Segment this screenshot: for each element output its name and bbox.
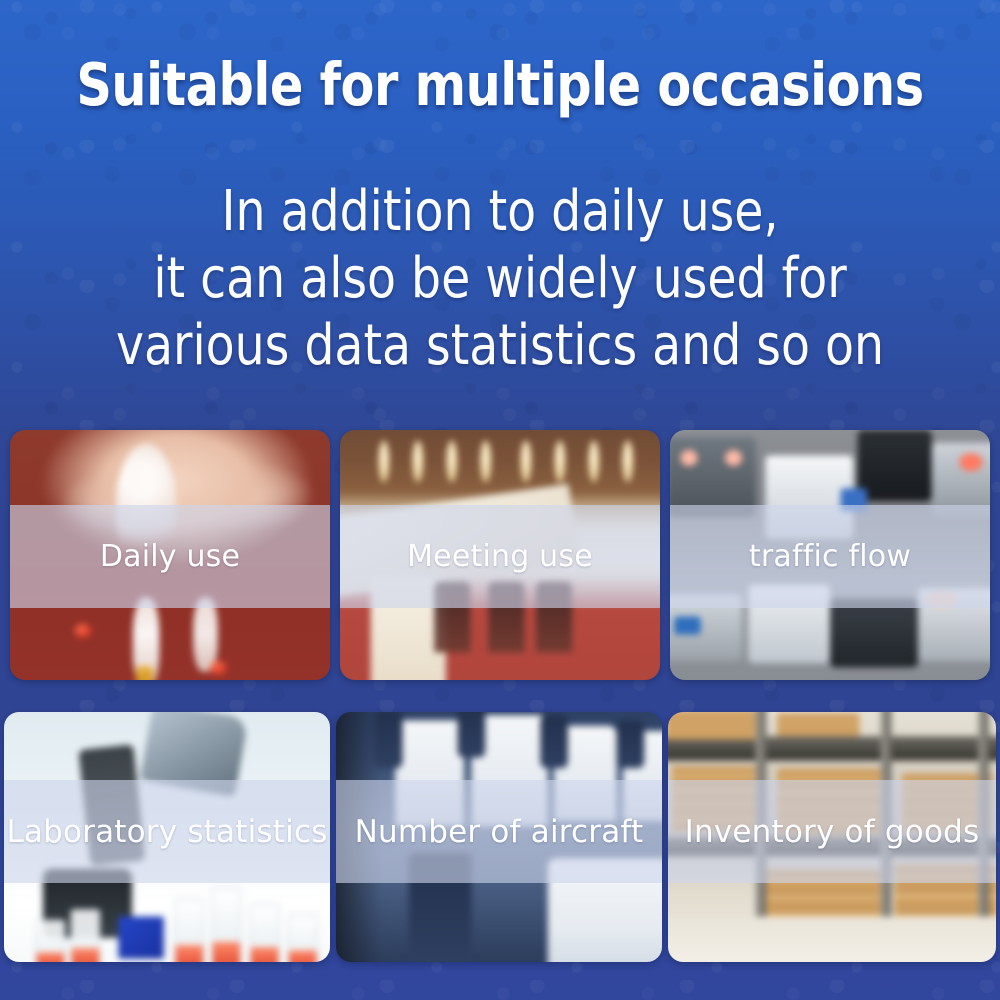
subtitle-line-1: In addition to daily use,	[30, 178, 970, 245]
card-label: Meeting use	[407, 539, 593, 574]
occasion-card-laboratory-statistics[interactable]: Laboratory statistics	[4, 712, 330, 962]
card-label: Daily use	[100, 539, 240, 574]
card-label-band: traffic flow	[670, 505, 990, 608]
card-row-top: Daily use	[0, 430, 1000, 680]
card-label: Laboratory statistics	[6, 814, 327, 850]
card-label-band: Number of aircraft	[336, 780, 662, 883]
card-row-bottom: Laboratory statistics	[0, 712, 1000, 962]
occasion-card-traffic-flow[interactable]: traffic flow	[670, 430, 990, 680]
occasion-card-inventory-of-goods[interactable]: Inventory of goods	[668, 712, 996, 962]
card-label: traffic flow	[749, 539, 911, 574]
subtitle-block: In addition to daily use, it can also be…	[30, 178, 970, 379]
occasion-card-daily-use[interactable]: Daily use	[10, 430, 330, 680]
card-label: Inventory of goods	[685, 814, 980, 850]
card-label-band: Daily use	[10, 505, 330, 608]
subtitle-line-2: it can also be widely used for	[30, 245, 970, 312]
page-title: Suitable for multiple occasions	[35, 55, 965, 114]
card-label-band: Meeting use	[340, 505, 660, 608]
card-label-band: Inventory of goods	[668, 780, 996, 883]
occasion-card-number-of-aircraft[interactable]: Number of aircraft	[336, 712, 662, 962]
occasion-card-meeting-use[interactable]: Meeting use	[340, 430, 660, 680]
card-label: Number of aircraft	[355, 814, 644, 850]
card-label-band: Laboratory statistics	[4, 780, 330, 883]
subtitle-line-3: various data statistics and so on	[30, 312, 970, 379]
promo-poster: Suitable for multiple occasions In addit…	[0, 0, 1000, 1000]
